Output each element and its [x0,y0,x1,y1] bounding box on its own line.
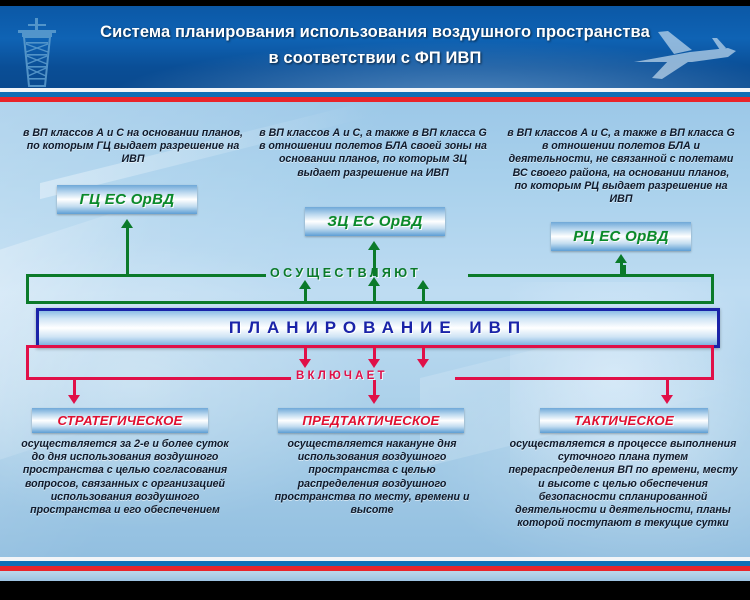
page-title: Система планирования использования возду… [0,19,750,71]
bottom-sky-strip [0,571,750,581]
green-spine-right [468,274,626,277]
center-label-text-1: ГЦ ЕС ОрВД [80,191,175,208]
red-drop-3 [666,377,669,396]
planning-type-label-2[interactable]: ПРЕДТАКТИЧЕСКОЕ [278,408,464,433]
green-rail-left-top [26,274,127,277]
planning-type-label-text-1: СТРАТЕГИЧЕСКОЕ [57,413,182,428]
green-riser-1 [126,228,129,277]
planning-type-label-3[interactable]: ТАКТИЧЕСКОЕ [540,408,708,433]
green-arrow-up-3 [615,254,627,263]
center-label-1[interactable]: ГЦ ЕС ОрВД [57,185,197,214]
slide-header: Система планирования использования возду… [0,6,750,88]
green-rail-right-drop [711,274,714,304]
flag-stripe-top [0,88,750,102]
red-drop-1 [73,377,76,396]
green-rail-right-top [623,274,714,277]
red-drop-2 [373,380,376,396]
center-label-text-3: РЦ ЕС ОрВД [573,228,669,245]
planning-type-description-1: осуществляется за 2-е и более суток до д… [18,438,232,517]
connector-label-osuschestvlyayut: ОСУЩЕСТВЛЯЮТ [270,266,421,280]
page-title-line2: в соответствии с ФП ИВП [0,45,750,71]
red-spine-right [455,377,626,380]
red-arrow-down-2 [368,395,380,404]
red-arrow-down-1 [68,395,80,404]
red-spine-left [126,377,291,380]
red-spine-far-left [26,377,127,380]
center-label-text-2: ЗЦ ЕС ОрВД [327,213,422,230]
center-description-2: в ВП классов А и С, а также в ВП класса … [258,127,488,180]
green-arrow-tick-3 [417,280,429,289]
green-rail-left-drop [26,274,29,304]
planning-type-label-text-2: ПРЕДТАКТИЧЕСКОЕ [302,413,439,428]
red-rail-right-drop [711,345,714,377]
center-label-2[interactable]: ЗЦ ЕС ОрВД [305,207,445,236]
red-rail-left-drop [26,345,29,377]
red-arrow-tick-1 [299,359,311,368]
center-description-3: в ВП классов А и С, а также в ВП класса … [505,127,737,206]
center-label-3[interactable]: РЦ ЕС ОрВД [551,222,691,251]
green-top-rail [26,301,714,304]
planning-type-description-2: осуществляется накануне дня использовани… [268,438,476,517]
main-planning-bar-label: ПЛАНИРОВАНИЕ ИВП [229,318,527,338]
green-arrow-tick-1 [299,280,311,289]
planning-type-label-text-3: ТАКТИЧЕСКОЕ [574,413,674,428]
green-spine-left [126,274,266,277]
green-riser-2 [373,250,376,276]
flag-stripe-bottom [0,557,750,571]
page-title-line1: Система планирования использования возду… [0,19,750,45]
planning-type-label-1[interactable]: СТРАТЕГИЧЕСКОЕ [32,408,208,433]
green-arrow-up-1 [121,219,133,228]
slide-root: Система планирования использования возду… [0,0,750,600]
planning-type-description-3: осуществляется в процессе выполнения сут… [506,438,740,530]
red-arrow-down-3 [661,395,673,404]
green-tick-1 [304,289,307,304]
green-tick-2 [373,284,376,304]
main-planning-bar[interactable]: ПЛАНИРОВАНИЕ ИВП [36,308,720,348]
red-bottom-rail [26,345,714,348]
green-arrow-tick-2 [368,277,380,286]
green-tick-3 [422,289,425,304]
center-description-1: в ВП классов А и С на основании планов, … [18,127,248,167]
red-arrow-tick-2 [368,359,380,368]
red-arrow-tick-3 [417,359,429,368]
green-arrow-up-2 [368,241,380,250]
